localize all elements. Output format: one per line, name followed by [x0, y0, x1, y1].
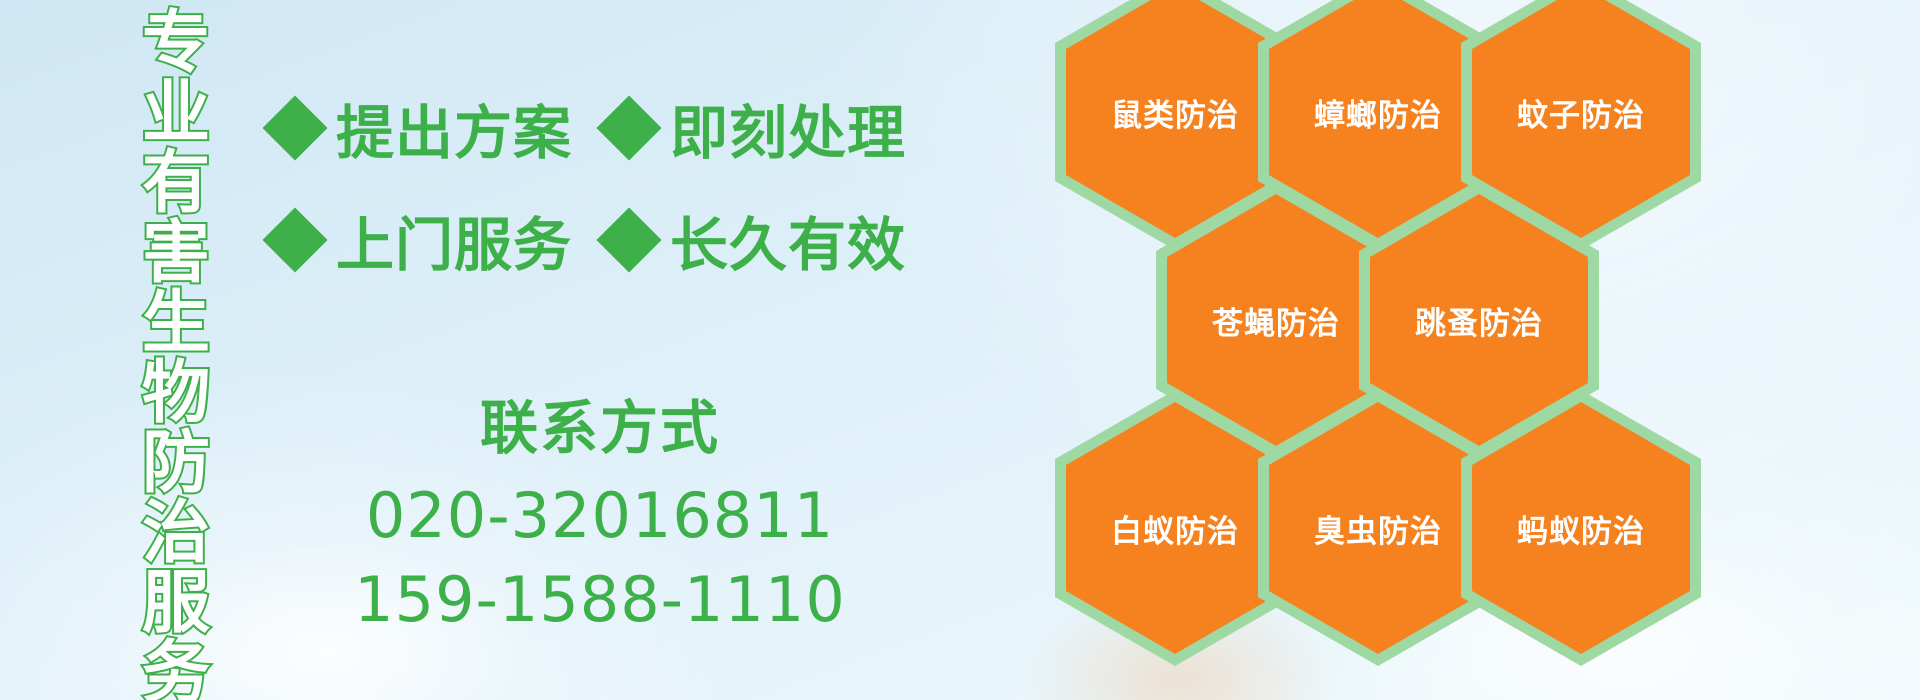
feature-row: 上门服务 长久有效 — [272, 184, 872, 296]
vertical-slogan-char: 生 — [142, 288, 210, 358]
contact-title: 联系方式 — [290, 392, 910, 466]
service-hex-label: 鼠类防治 — [1111, 90, 1239, 135]
diamond-icon — [596, 95, 661, 160]
service-honeycomb: 鼠类防治 蟑螂防治 蚊子防治 苍蝇防治 跳蚤防治 白蚁防治 — [1055, 0, 1785, 700]
vertical-slogan-char: 防 — [142, 428, 210, 498]
hex-inner: 白蚁防治 — [1066, 402, 1284, 654]
feature-label: 提出方案 — [336, 86, 572, 170]
service-hex-label: 臭虫防治 — [1314, 506, 1442, 551]
vertical-slogan-char: 物 — [142, 358, 210, 428]
vertical-slogan-char: 服 — [142, 568, 210, 638]
feature-list: 提出方案 即刻处理 上门服务 长久有效 — [272, 72, 872, 296]
hex-inner: 臭虫防治 — [1269, 402, 1487, 654]
feature-label: 长久有效 — [670, 198, 906, 282]
contact-phone-mobile[interactable]: 159-1588-1110 — [290, 558, 910, 642]
vertical-slogan-char: 有 — [142, 148, 210, 218]
service-hex-label: 蚊子防治 — [1517, 90, 1645, 135]
service-hex-label: 蟑螂防治 — [1314, 90, 1442, 135]
vertical-slogan-char: 务 — [142, 638, 210, 700]
service-hex-label: 蚂蚁防治 — [1517, 506, 1645, 551]
vertical-slogan: 专 业 有 害 生 物 防 治 服 务 — [128, 8, 224, 692]
contact-block: 联系方式 020-32016811 159-1588-1110 — [290, 392, 910, 642]
diamond-icon — [262, 95, 327, 160]
service-hex-label: 跳蚤防治 — [1415, 298, 1543, 343]
feature-label: 即刻处理 — [670, 86, 906, 170]
contact-phone-landline[interactable]: 020-32016811 — [290, 474, 910, 558]
service-hex-label: 白蚁防治 — [1111, 506, 1239, 551]
hex-inner: 蚂蚁防治 — [1472, 402, 1690, 654]
feature-item-tichufangan: 提出方案 — [272, 86, 572, 170]
feature-label: 上门服务 — [336, 198, 572, 282]
vertical-slogan-char: 业 — [142, 78, 210, 148]
feature-item-jikechuli: 即刻处理 — [606, 86, 906, 170]
diamond-icon — [596, 207, 661, 272]
feature-item-shangmenfuwu: 上门服务 — [272, 198, 572, 282]
vertical-slogan-char: 害 — [142, 218, 210, 288]
diamond-icon — [262, 207, 327, 272]
vertical-slogan-char: 专 — [142, 8, 210, 78]
promo-banner: 专 业 有 害 生 物 防 治 服 务 提出方案 即刻处理 上门服务 — [0, 0, 1920, 700]
service-hex-label: 苍蝇防治 — [1212, 298, 1340, 343]
vertical-slogan-char: 治 — [142, 498, 210, 568]
feature-row: 提出方案 即刻处理 — [272, 72, 872, 184]
feature-item-changjiuyouxiao: 长久有效 — [606, 198, 906, 282]
